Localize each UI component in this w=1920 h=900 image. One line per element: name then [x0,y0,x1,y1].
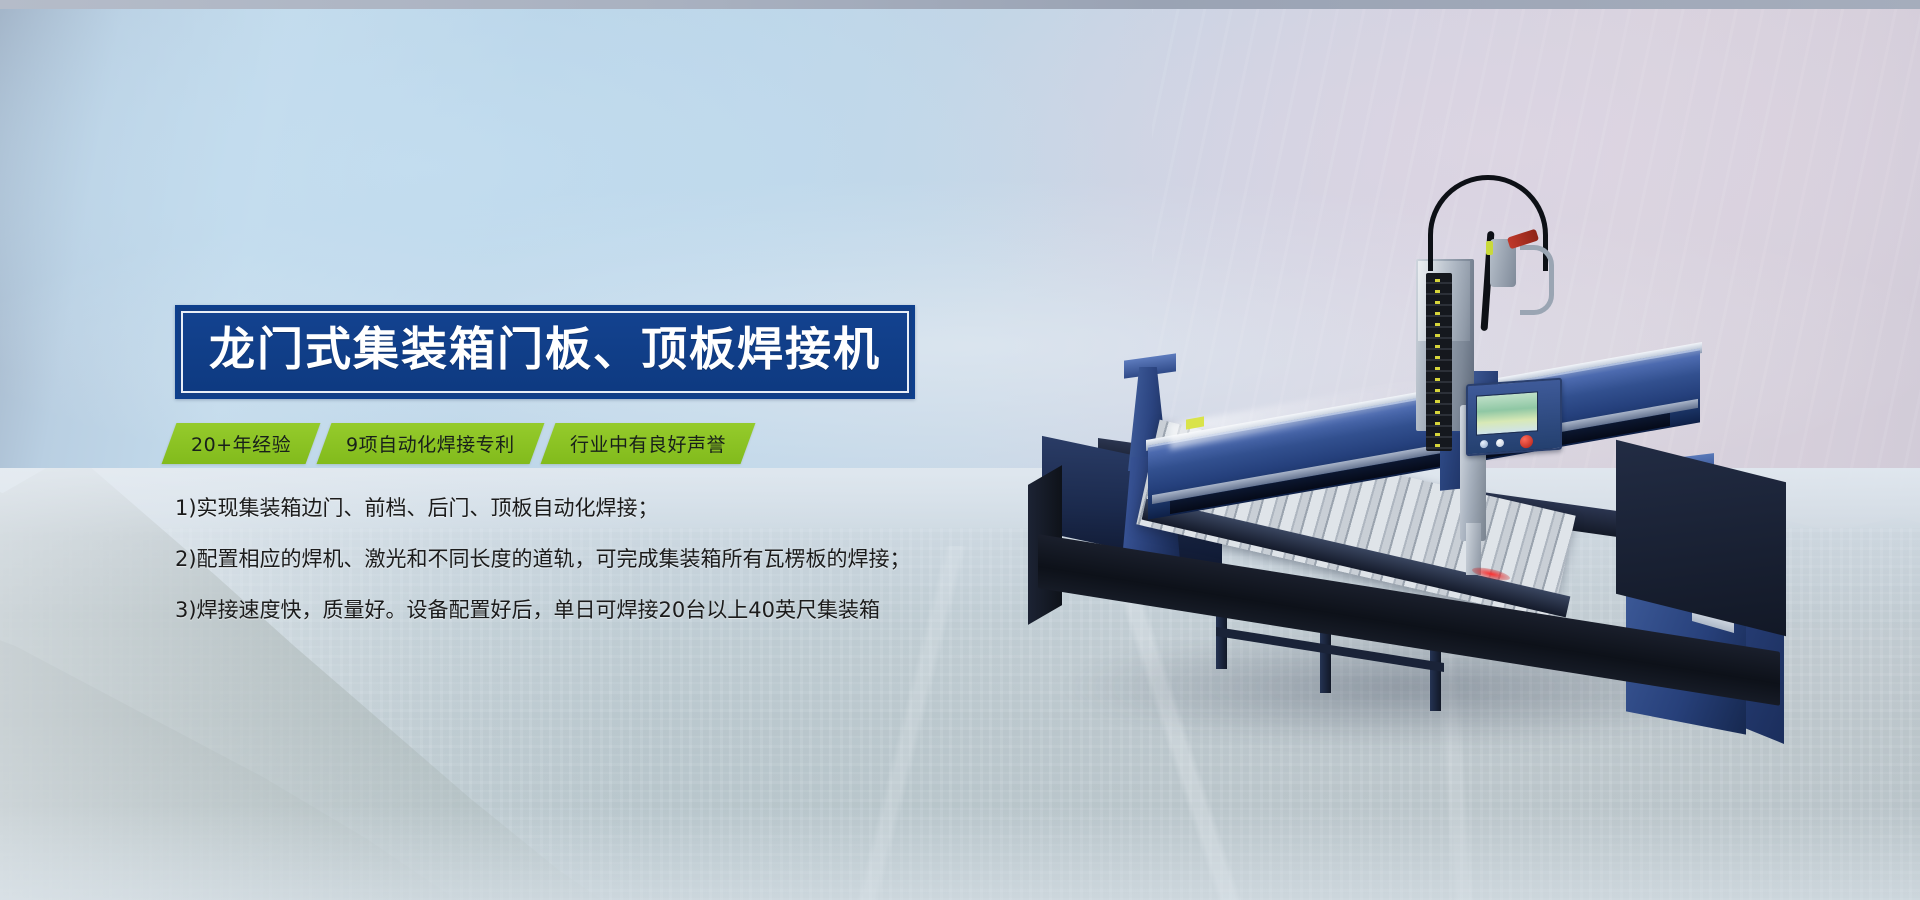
banner-content: 龙门式集装箱门板、顶板焊接机 20+年经验 9项自动化焊接专利 行业中有良好声誉… [175,305,995,621]
feature-line-3: 3)焊接速度快，质量好。设备配置好后，单日可焊接20台以上40英尺集装箱 [175,600,995,621]
machine-handle [1520,245,1554,315]
machine-torch-green-marker [1486,241,1493,255]
hero-banner: 龙门式集装箱门板、顶板焊接机 20+年经验 9项自动化焊接专利 行业中有良好声誉… [0,0,1920,900]
feature-badge-experience: 20+年经验 [162,423,321,464]
feature-badge-list: 20+年经验 9项自动化焊接专利 行业中有良好声誉 [169,423,995,464]
fog-overlay-bottom [0,805,1920,900]
feature-badge-patents: 9项自动化焊接专利 [317,423,545,464]
page-title-plaque: 龙门式集装箱门板、顶板焊接机 [175,305,915,399]
feature-badge-label: 9项自动化焊接专利 [346,430,515,457]
machine-panel-button [1496,439,1504,448]
feature-badge-label: 行业中有良好声誉 [570,430,726,457]
feature-badge-label: 20+年经验 [191,430,291,457]
machine-panel-button [1480,440,1488,449]
feature-badge-reputation: 行业中有良好声誉 [540,423,755,464]
top-edge-strip [0,0,1920,9]
machine-hmi-screen [1476,391,1538,435]
machine-emergency-stop-button [1520,435,1533,449]
welding-machine-image [1020,175,1810,755]
feature-line-2: 2)配置相应的焊机、激光和不同长度的道轨，可完成集装箱所有瓦楞板的焊接； [175,549,995,570]
feature-description-list: 1)实现集装箱边门、前档、后门、顶板自动化焊接； 2)配置相应的焊机、激光和不同… [175,498,995,621]
machine-control-panel [1466,378,1562,457]
page-title-plaque-inner: 龙门式集装箱门板、顶板焊接机 [181,311,909,393]
page-title: 龙门式集装箱门板、顶板焊接机 [209,324,881,376]
feature-line-1: 1)实现集装箱边门、前档、后门、顶板自动化焊接； [175,498,995,519]
machine-drag-chain-pins [1435,279,1440,447]
